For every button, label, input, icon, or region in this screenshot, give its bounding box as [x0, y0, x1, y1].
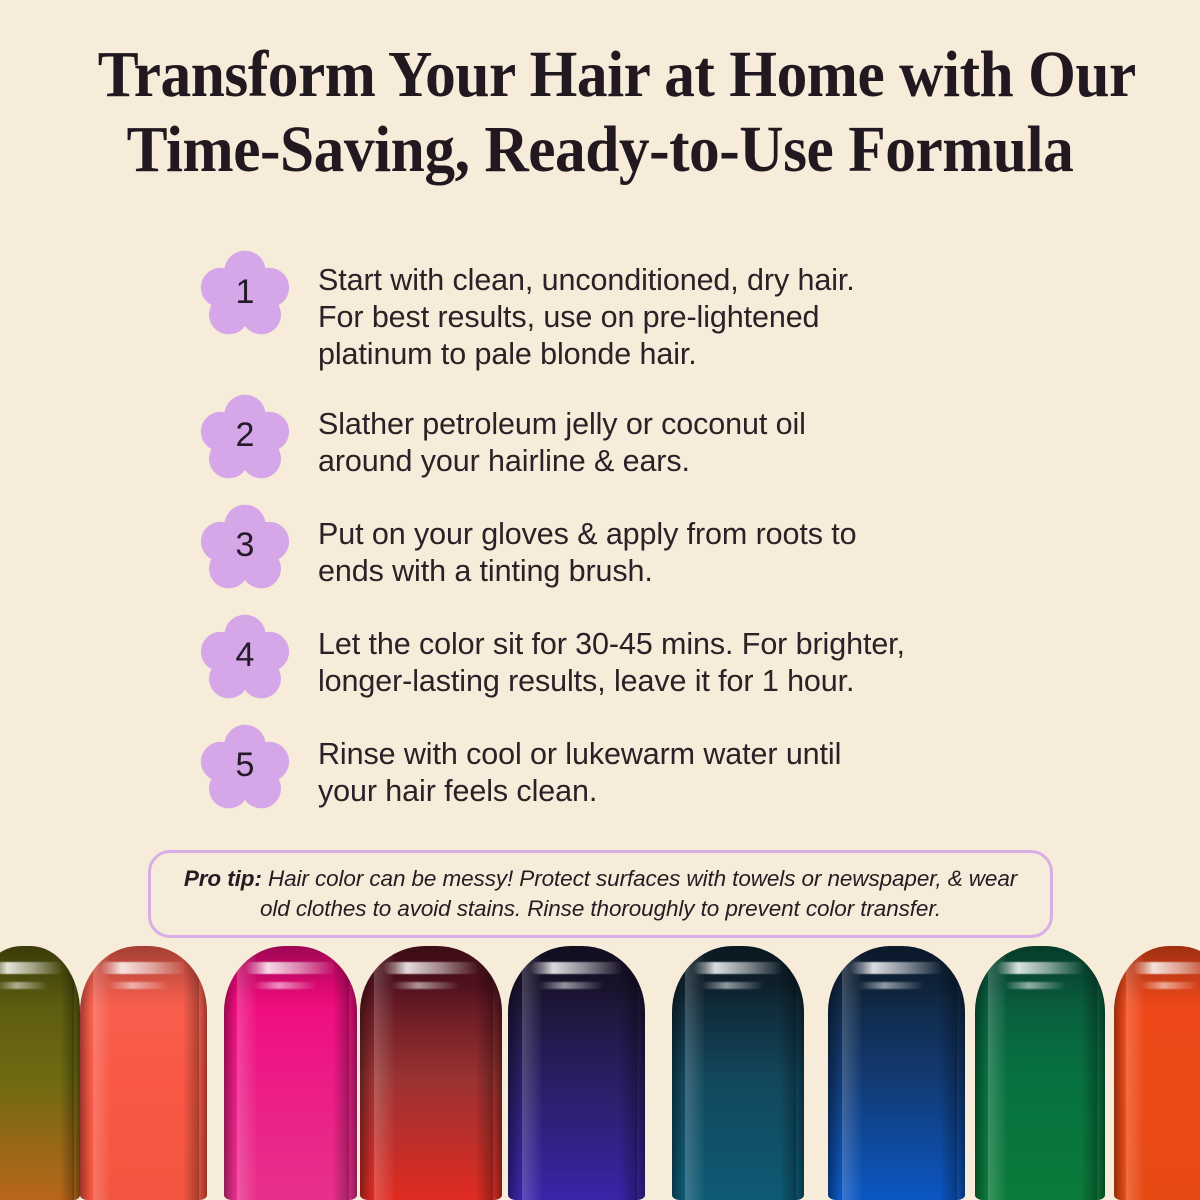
bottle-highlight-second [391, 982, 459, 989]
bottle-cap-shadow [80, 946, 207, 1012]
bottle-edge-right [1095, 946, 1105, 1200]
bottle-highlight-top [0, 962, 63, 974]
bottle-edge-left [360, 946, 373, 1200]
step-text: Let the color sit for 30-45 mins. For br… [318, 616, 1060, 700]
bottle-edge-left [672, 946, 684, 1200]
bottle-edge-right [197, 946, 207, 1200]
bottle-highlight-top [996, 962, 1084, 974]
list-item: 3 Put on your gloves & apply from roots … [200, 506, 1060, 592]
bottle-edge-right [634, 946, 645, 1200]
step-number: 3 [200, 502, 290, 592]
indigo-violet-bottle [508, 946, 645, 1200]
flower-badge-icon: 4 [200, 612, 290, 702]
page-title-line-2: Time-Saving, Ready-to-Use Formula [98, 113, 1102, 188]
list-item: 5 Rinse with cool or lukewarm water unti… [200, 726, 1060, 812]
bottle-edge-left [975, 946, 987, 1200]
royal-blue-bottle [828, 946, 965, 1200]
flower-badge-icon: 3 [200, 502, 290, 592]
step-number: 1 [200, 248, 290, 338]
step-number: 2 [200, 392, 290, 482]
page-title: Transform Your Hair at Home with Our Tim… [98, 38, 1102, 187]
bottle-highlight-top [530, 962, 623, 974]
infographic-page: Transform Your Hair at Home with Our Tim… [0, 0, 1200, 1200]
list-item: 2 Slather petroleum jelly or coconut oil… [200, 396, 1060, 482]
bottle-edge-left [1114, 946, 1125, 1200]
bottle-edge-right [954, 946, 965, 1200]
bottle-cap-shadow [672, 946, 804, 1012]
bottle-highlight-second [538, 982, 604, 989]
bottle-edge-right [491, 946, 502, 1200]
step-number: 4 [200, 612, 290, 702]
pro-tip-text: Pro tip: Hair color can be messy! Protec… [177, 864, 1024, 924]
step-number: 5 [200, 722, 290, 812]
pro-tip-label: Pro tip: [184, 866, 262, 891]
bottle-highlight-top [850, 962, 943, 974]
bottle-cap-shadow [224, 946, 357, 1012]
bottle-cap-shadow [0, 946, 80, 1012]
flower-badge-icon: 5 [200, 722, 290, 812]
bottle-cap-shadow [508, 946, 645, 1012]
bottle-cap-shadow [360, 946, 502, 1012]
bottle-edge-right [346, 946, 357, 1200]
step-text: Put on your gloves & apply from roots to… [318, 506, 1060, 590]
bottle-highlight-top [383, 962, 480, 974]
dark-red-bottle [360, 946, 502, 1200]
orange-bottle [1114, 946, 1200, 1200]
bottle-edge-right [71, 946, 80, 1200]
list-item: 1 Start with clean, unconditioned, dry h… [200, 252, 1060, 374]
teal-blue-bottle [672, 946, 804, 1200]
bottle-cap-shadow [828, 946, 965, 1012]
list-item: 4 Let the color sit for 30-45 mins. For … [200, 616, 1060, 702]
bottle-highlight-second [1004, 982, 1066, 989]
bottle-cap-shadow [975, 946, 1105, 1012]
flower-badge-icon: 2 [200, 392, 290, 482]
pro-tip-body: Hair color can be messy! Protect surface… [260, 866, 1017, 921]
bottle-highlight-second [1140, 982, 1198, 989]
bottle-highlight-top [100, 962, 186, 974]
bottle-highlight-top [1133, 962, 1200, 974]
step-text: Start with clean, unconditioned, dry hai… [318, 252, 1060, 374]
coral-red-bottle [80, 946, 207, 1200]
bottle-edge-left [508, 946, 520, 1200]
bottle-highlight-second [858, 982, 924, 989]
pro-tip-callout: Pro tip: Hair color can be messy! Protec… [148, 850, 1053, 938]
step-text: Slather petroleum jelly or coconut oil a… [318, 396, 1060, 480]
bottle-edge-right [793, 946, 804, 1200]
steps-list: 1 Start with clean, unconditioned, dry h… [200, 252, 1060, 812]
bottle-highlight-top [245, 962, 335, 974]
product-bottles-strip [0, 946, 1200, 1200]
hot-pink-bottle [224, 946, 357, 1200]
bottle-highlight-second [253, 982, 317, 989]
bottle-highlight-second [0, 982, 48, 989]
flower-badge-icon: 1 [200, 248, 290, 338]
emerald-green-bottle [975, 946, 1105, 1200]
bottle-highlight-top [693, 962, 783, 974]
bottle-highlight-second [701, 982, 764, 989]
bottle-cap-shadow [1114, 946, 1200, 1012]
bottle-edge-left [80, 946, 91, 1200]
bottle-highlight-second [108, 982, 169, 989]
bottle-edge-left [224, 946, 236, 1200]
step-text: Rinse with cool or lukewarm water until … [318, 726, 1060, 810]
olive-green-bottle [0, 946, 80, 1200]
bottle-edge-left [828, 946, 840, 1200]
page-title-line-1: Transform Your Hair at Home with Our [98, 38, 1102, 113]
